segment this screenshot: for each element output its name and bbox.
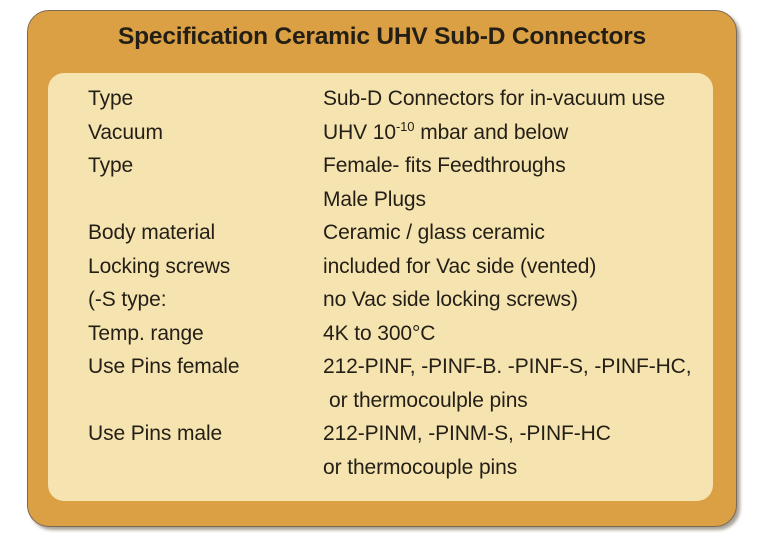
spec-label: Locking screws: [88, 250, 230, 284]
spec-label: Use Pins female: [88, 350, 239, 384]
spec-value: UHV 10-10 mbar and below: [323, 116, 568, 150]
specification-card: Specification Ceramic UHV Sub-D Connecto…: [27, 10, 737, 527]
spec-value: Ceramic / glass ceramic: [323, 216, 545, 250]
spec-value: Male Plugs: [323, 183, 426, 217]
specification-panel: TypeSub-D Connectors for in-vacuum useVa…: [48, 73, 713, 501]
spec-value: or thermocouple pins: [323, 451, 517, 485]
table-row: Male Plugs: [48, 183, 713, 217]
table-row: Temp. range4K to 300°C: [48, 317, 713, 351]
spec-label: Type: [88, 82, 133, 116]
spec-value: Female- fits Feedthroughs: [323, 149, 566, 183]
spec-label: (-S type:: [88, 283, 166, 317]
table-row: or thermocoulple pins: [48, 384, 713, 418]
spec-value-prefix: UHV 10: [323, 121, 396, 144]
table-row: (-S type:no Vac side locking screws): [48, 283, 713, 317]
page-title: Specification Ceramic UHV Sub-D Connecto…: [28, 23, 736, 51]
spec-value: no Vac side locking screws): [323, 283, 578, 317]
spec-value: included for Vac side (vented): [323, 250, 596, 284]
spec-label: Use Pins male: [88, 417, 222, 451]
spec-value-exponent: -10: [396, 119, 415, 134]
table-row: or thermocouple pins: [48, 451, 713, 485]
spec-value: 212-PINF, -PINF-B. -PINF-S, -PINF-HC,: [323, 350, 692, 384]
spec-value: 212-PINM, -PINM-S, -PINF-HC: [323, 417, 611, 451]
table-row: TypeFemale- fits Feedthroughs: [48, 149, 713, 183]
spec-label: Vacuum: [88, 116, 163, 150]
specification-table: TypeSub-D Connectors for in-vacuum useVa…: [48, 82, 713, 484]
spec-value-suffix: mbar and below: [414, 121, 568, 144]
table-row: Use Pins male212-PINM, -PINM-S, -PINF-HC: [48, 417, 713, 451]
table-row: Body materialCeramic / glass ceramic: [48, 216, 713, 250]
table-row: Locking screwsincluded for Vac side (ven…: [48, 250, 713, 284]
spec-label: Body material: [88, 216, 215, 250]
spec-label: Temp. range: [88, 317, 204, 351]
spec-label: Type: [88, 149, 133, 183]
table-row: Use Pins female212-PINF, -PINF-B. -PINF-…: [48, 350, 713, 384]
spec-value: or thermocoulple pins: [329, 384, 528, 418]
table-row: TypeSub-D Connectors for in-vacuum use: [48, 82, 713, 116]
table-row: VacuumUHV 10-10 mbar and below: [48, 116, 713, 150]
spec-value: Sub-D Connectors for in-vacuum use: [323, 82, 665, 116]
spec-value: 4K to 300°C: [323, 317, 435, 351]
